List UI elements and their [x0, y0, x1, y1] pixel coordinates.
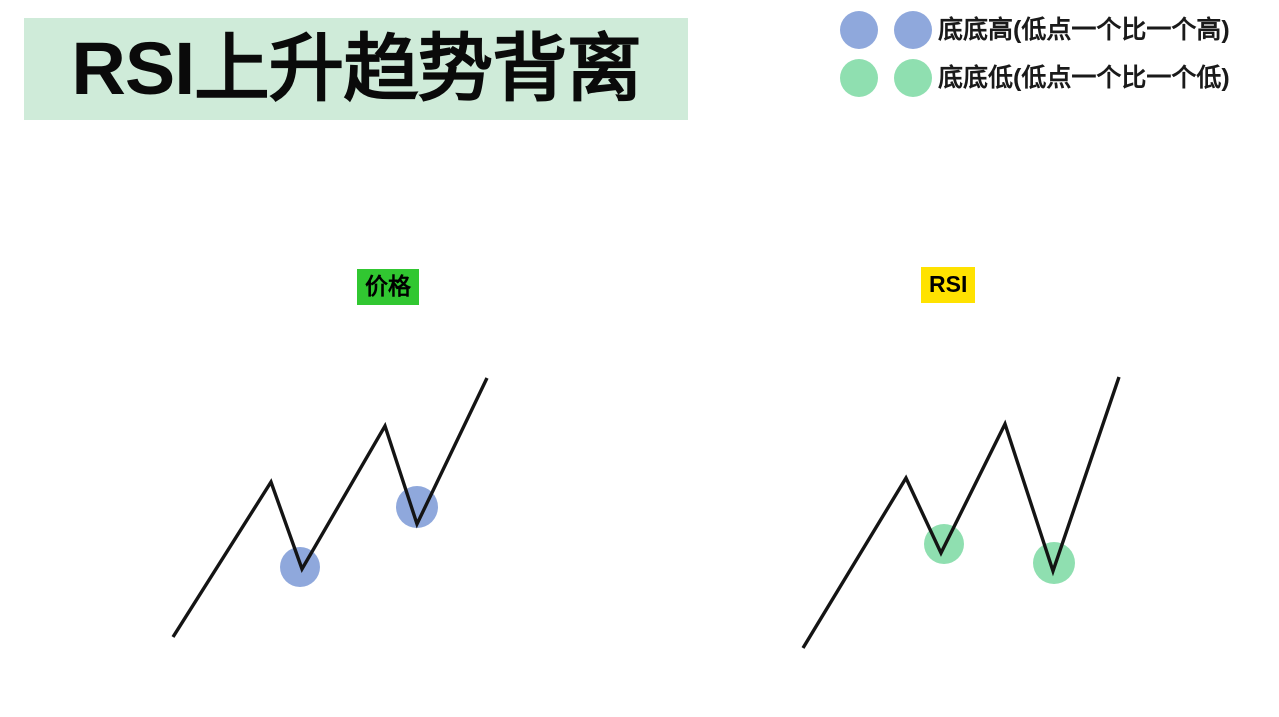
trough-marker-trough-1: [924, 524, 964, 564]
legend-swatch-group-green: [836, 59, 938, 97]
green-dot-icon: [894, 59, 932, 97]
price-chart: [173, 378, 487, 637]
green-dot-icon: [840, 59, 878, 97]
legend-label-higher-lows: 底底高(低点一个比一个高): [938, 18, 1230, 43]
legend: 底底高(低点一个比一个高) 底底低(低点一个比一个低): [836, 6, 1279, 102]
legend-row-higher-lows: 底底高(低点一个比一个高): [836, 6, 1279, 54]
rsi-zigzag-line: [803, 377, 1119, 648]
rsi-chart: [803, 377, 1119, 648]
trough-marker-trough-2: [396, 486, 438, 528]
rsi-panel-caption: RSI: [921, 267, 975, 303]
title-banner: RSI上升趋势背离: [24, 18, 688, 120]
price-trough-markers: [280, 486, 438, 587]
page-title: RSI上升趋势背离: [71, 32, 641, 106]
legend-row-lower-lows: 底底低(低点一个比一个低): [836, 54, 1279, 102]
trough-marker-trough-1: [280, 547, 320, 587]
rsi-trough-markers: [924, 524, 1075, 584]
price-panel-caption: 价格: [357, 269, 419, 305]
legend-label-lower-lows: 底底低(低点一个比一个低): [938, 66, 1230, 91]
blue-dot-icon: [894, 11, 932, 49]
blue-dot-icon: [840, 11, 878, 49]
legend-swatch-group-blue: [836, 11, 938, 49]
trough-marker-trough-2: [1033, 542, 1075, 584]
price-zigzag-line: [173, 378, 487, 637]
